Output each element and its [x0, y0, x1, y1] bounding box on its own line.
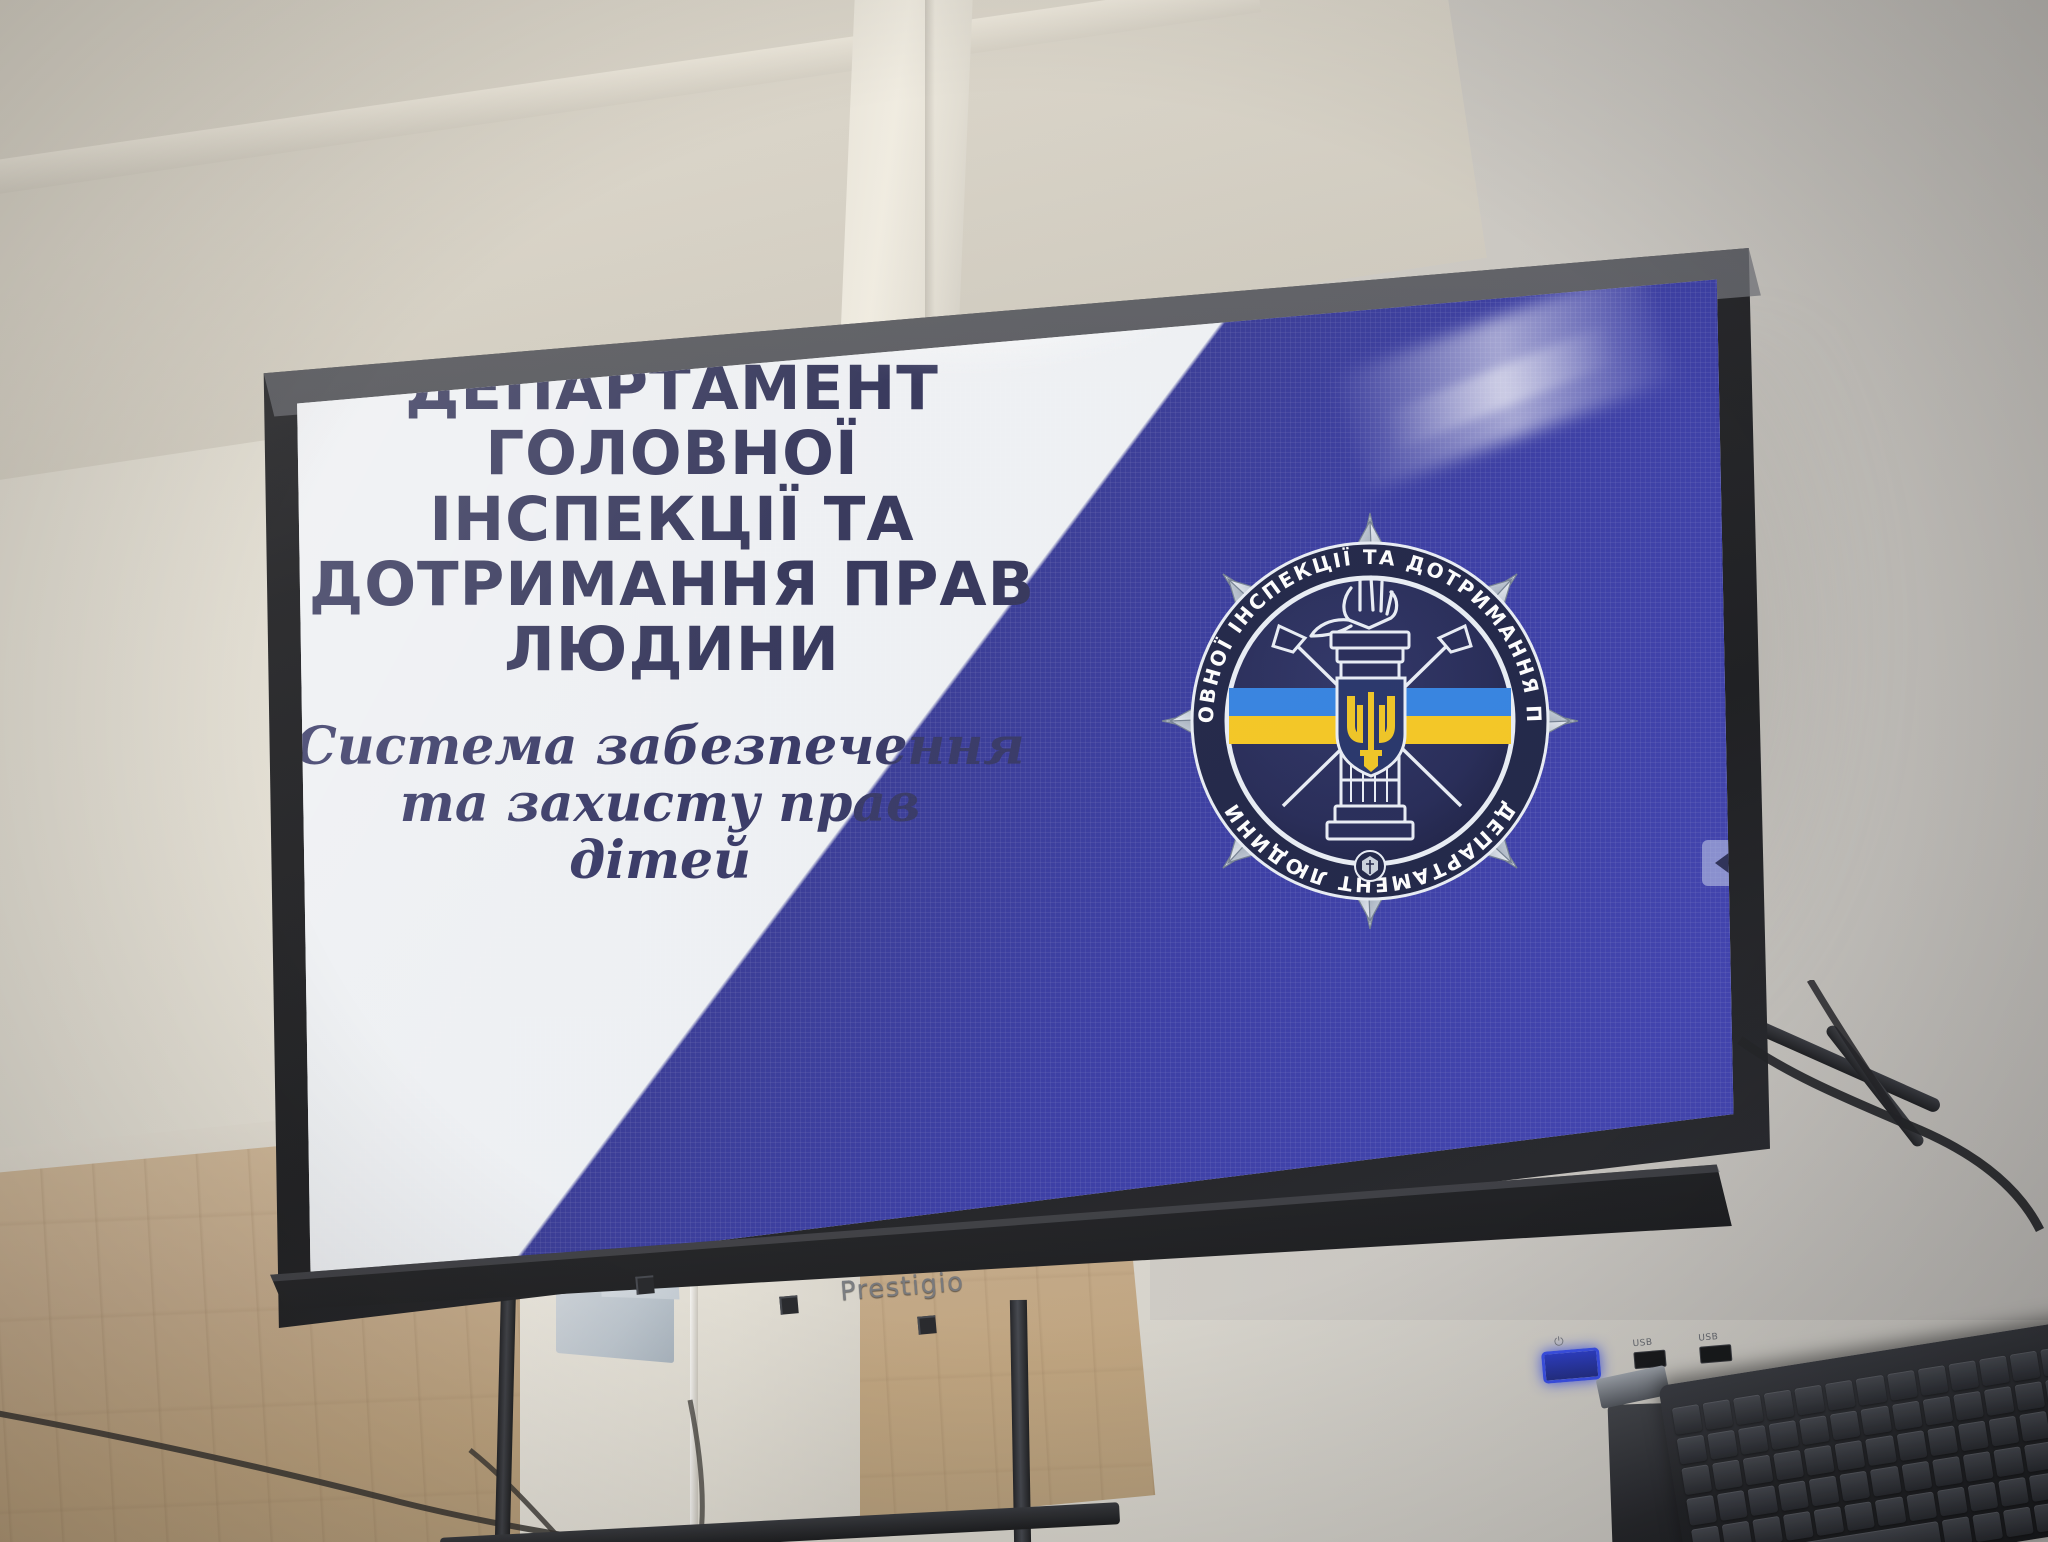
- power-icon: ⏻: [1554, 1334, 1565, 1350]
- photo-scene: ГОЛОВНОЇ ІНСПЕКЦІЇ ТА ДОТРИМАННЯ ПРАВ ДЕ…: [0, 0, 2048, 1542]
- mount-tab-3: [917, 1315, 937, 1335]
- power-indicator-led[interactable]: [1541, 1347, 1601, 1384]
- keyboard-keys[interactable]: [1672, 1346, 2048, 1542]
- slide-left-marker: [258, 746, 270, 764]
- mount-tab-1: [635, 1275, 655, 1295]
- usb-label-1: USB: [1632, 1337, 1653, 1349]
- mount-tab-2: [779, 1295, 799, 1315]
